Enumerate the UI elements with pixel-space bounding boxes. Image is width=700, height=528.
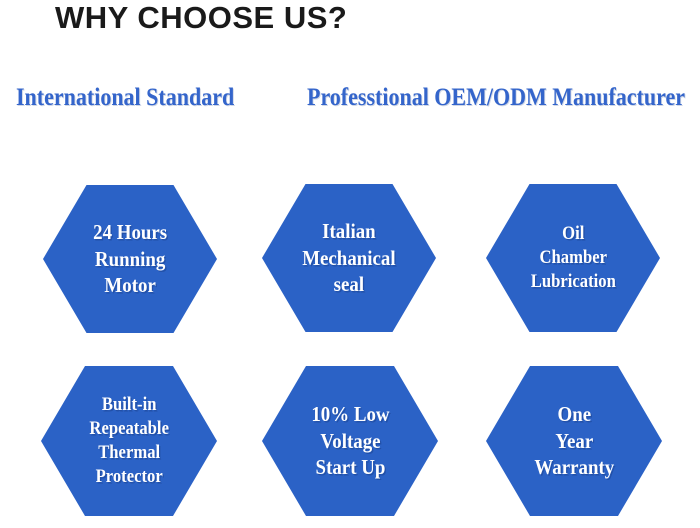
feature-label: Built-in Repeatable Thermal Protector bbox=[84, 393, 174, 489]
feature-hexagon-oil-chamber-lubrication: Oil Chamber Lubrication bbox=[486, 184, 660, 332]
feature-hexagon-built-in-repeatable-thermal-protector: Built-in Repeatable Thermal Protector bbox=[41, 366, 217, 516]
feature-label: Italian Mechanical seal bbox=[297, 218, 401, 298]
feature-label: Oil Chamber Lubrication bbox=[525, 222, 621, 294]
why-choose-us-infographic: WHY CHOOSE US? International Standard Pr… bbox=[0, 0, 700, 528]
feature-label: 24 Hours Running Motor bbox=[88, 219, 173, 299]
feature-label: 10% Low Voltage Start Up bbox=[305, 401, 394, 481]
feature-hexagon-italian-mechanical-seal: Italian Mechanical seal bbox=[262, 184, 436, 332]
feature-hexagon-grid: 24 Hours Running Motor Italian Mechanica… bbox=[0, 0, 700, 528]
feature-hexagon-10-percent-low-voltage-start-up: 10% Low Voltage Start Up bbox=[262, 366, 438, 516]
feature-hexagon-one-year-warranty: One Year Warranty bbox=[486, 366, 662, 516]
feature-label: One Year Warranty bbox=[529, 401, 620, 481]
feature-hexagon-24-hours-running-motor: 24 Hours Running Motor bbox=[43, 185, 217, 333]
